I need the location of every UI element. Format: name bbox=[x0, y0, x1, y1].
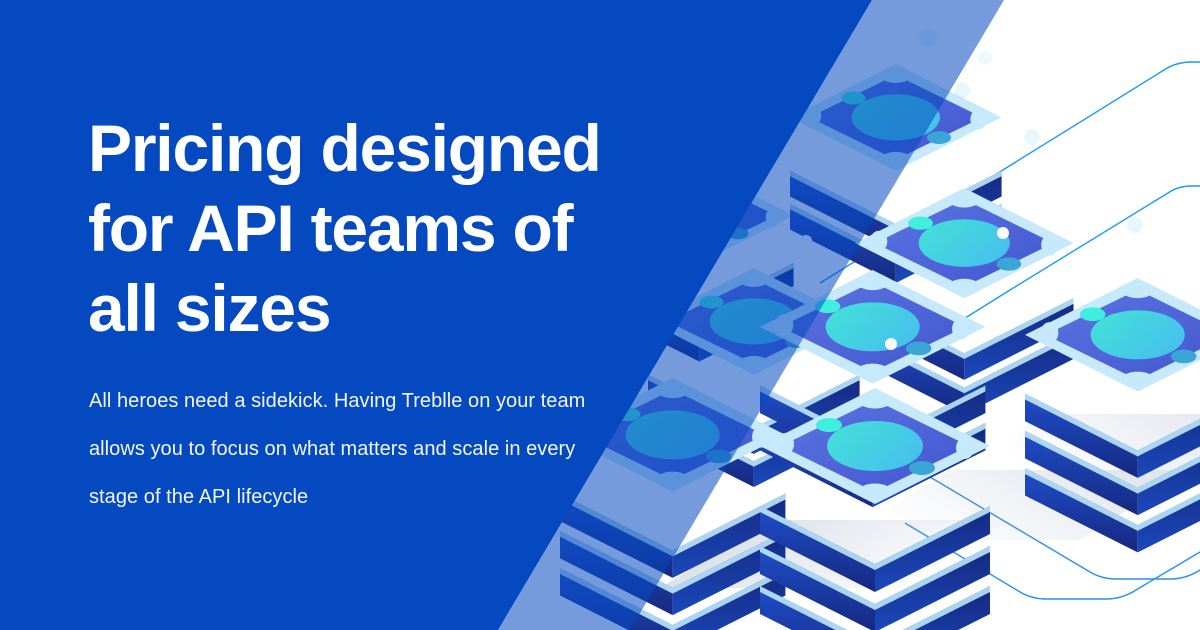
pricing-hero-banner: Pricing designed for API teams of all si… bbox=[0, 0, 1200, 630]
hero-background-artwork bbox=[0, 0, 1200, 630]
